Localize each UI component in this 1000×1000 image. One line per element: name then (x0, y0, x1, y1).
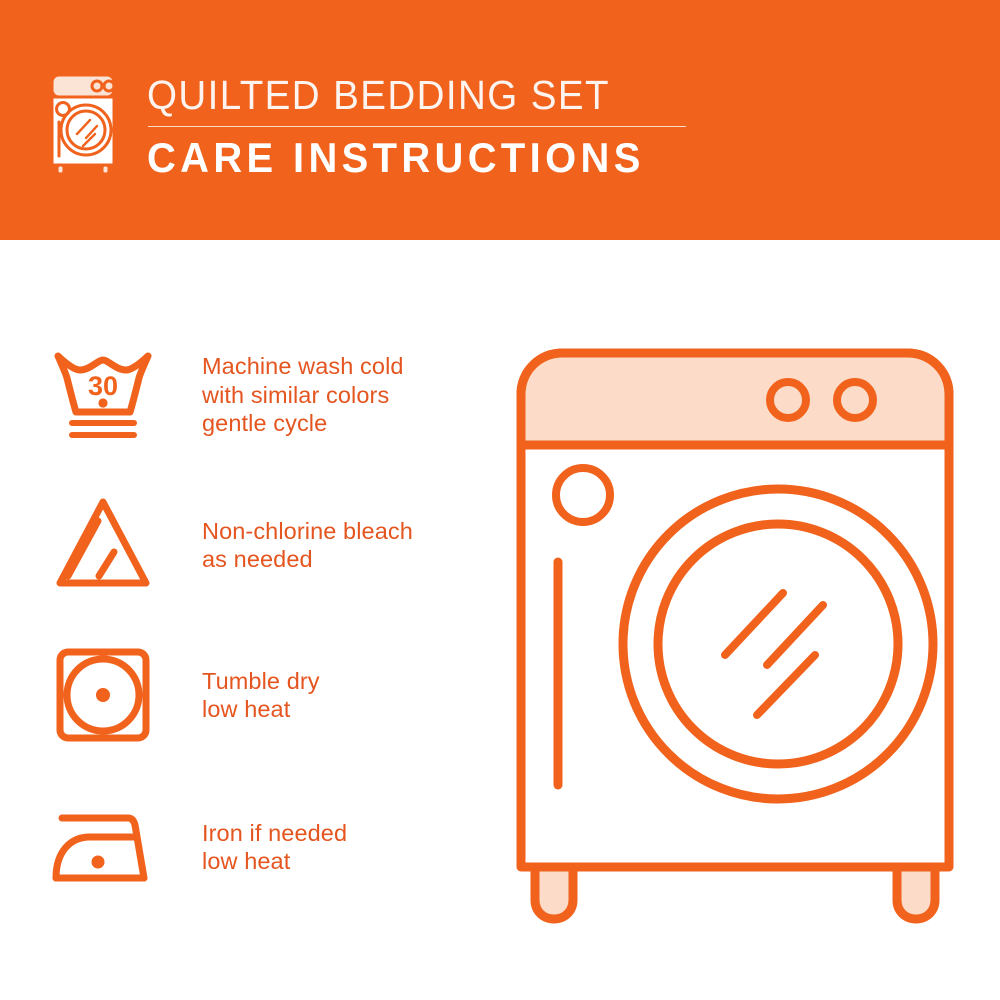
care-row-iron: Iron if needed low heat (0, 792, 470, 902)
care-label-line: with similar colors (202, 381, 404, 410)
page-subtitle: CARE INSTRUCTIONS (147, 134, 717, 182)
non-chlorine-bleach-icon (48, 490, 158, 600)
tumble-dry-low-icon (48, 640, 158, 750)
wash-temperature-label: 30 (88, 371, 118, 401)
care-label-line: Machine wash cold (202, 352, 404, 381)
care-label-line: Iron if needed (202, 819, 347, 848)
machine-wash-30-gentle-icon: 30 (48, 340, 158, 450)
care-label-line: as needed (202, 545, 413, 574)
care-label-iron: Iron if needed low heat (202, 819, 347, 876)
care-label-bleach: Non-chlorine bleach as needed (202, 517, 413, 574)
care-row-machine-wash: 30 Machine wash cold with similar colors… (0, 340, 470, 450)
header-banner: QUILTED BEDDING SET CARE INSTRUCTIONS (0, 0, 1000, 240)
care-label-line: Non-chlorine bleach (202, 517, 413, 546)
care-label-line: Tumble dry (202, 667, 320, 696)
title-divider (148, 126, 686, 127)
iron-low-heat-icon (48, 792, 158, 902)
leg-right (897, 867, 935, 919)
washing-machine-illustration (495, 335, 975, 925)
care-label-machine-wash: Machine wash cold with similar colors ge… (202, 352, 404, 438)
care-instructions-page: QUILTED BEDDING SET CARE INSTRUCTIONS 30 (0, 0, 1000, 1000)
care-instructions-list: 30 Machine wash cold with similar colors… (0, 240, 500, 1000)
leg-left (535, 867, 573, 919)
washing-machine-icon (45, 72, 125, 176)
header-title-block: QUILTED BEDDING SET CARE INSTRUCTIONS (147, 72, 747, 182)
care-label-line: gentle cycle (202, 409, 404, 438)
care-row-tumble-dry: Tumble dry low heat (0, 640, 470, 750)
care-row-bleach: Non-chlorine bleach as needed (0, 490, 470, 600)
page-title: QUILTED BEDDING SET (147, 72, 711, 118)
control-panel (521, 353, 949, 445)
care-label-tumble-dry: Tumble dry low heat (202, 667, 320, 724)
care-label-line: low heat (202, 847, 347, 876)
care-label-line: low heat (202, 695, 320, 724)
